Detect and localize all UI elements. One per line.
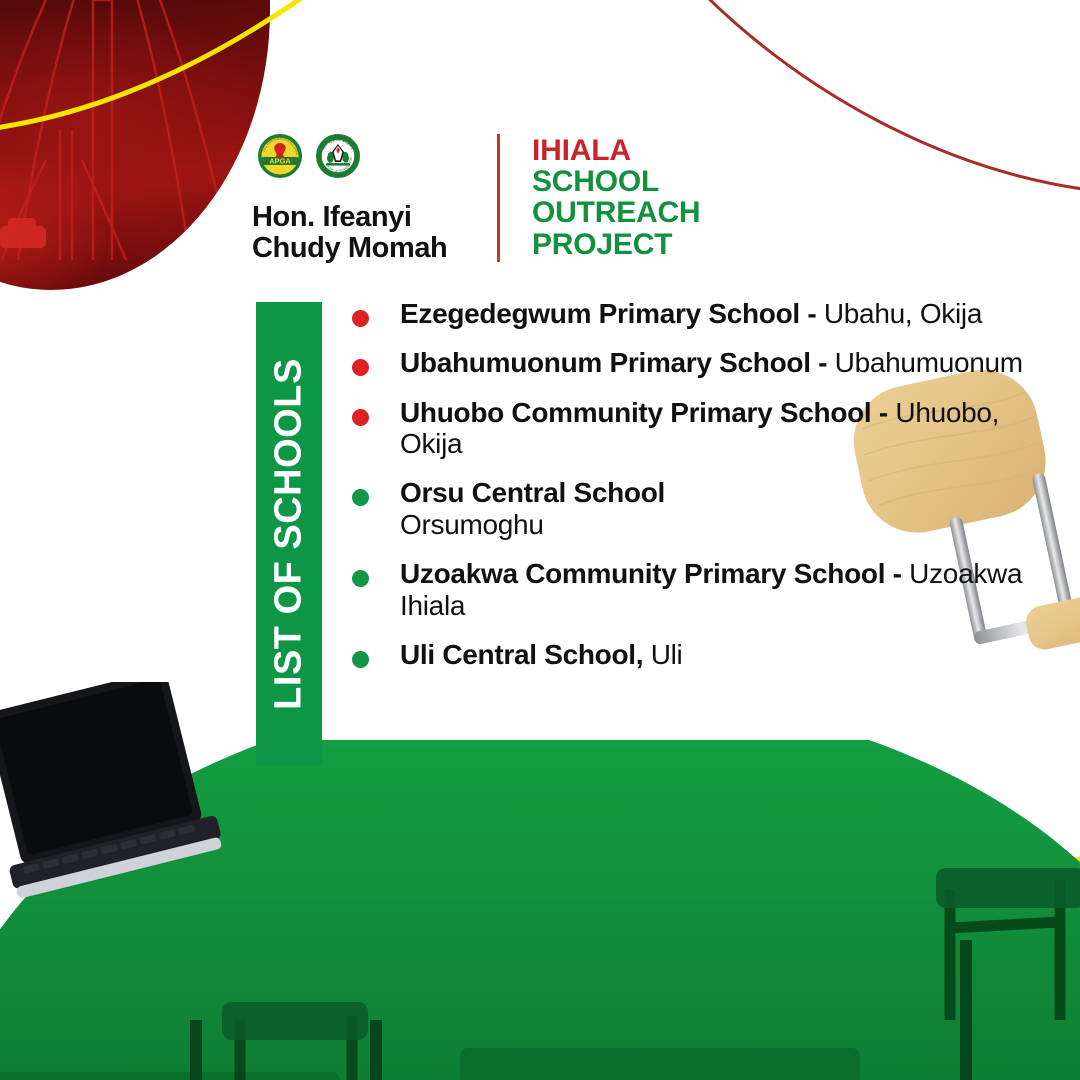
- laptop-image: [0, 682, 228, 942]
- school-location: Ubahu, Okija: [816, 298, 982, 329]
- school-list-item: Orsu Central SchoolOrsumoghu: [344, 477, 1044, 540]
- list-of-schools-label: LIST OF SCHOOLS: [268, 358, 311, 710]
- school-location: Uli: [643, 639, 682, 670]
- person-name: Hon. Ifeanyi Chudy Momah: [252, 202, 447, 265]
- project-title-line-1: IHIALA: [532, 135, 700, 166]
- poster-canvas: a F: [0, 0, 1080, 1080]
- bullet-dot-icon: [352, 310, 369, 327]
- school-list: Ezegedegwum Primary School - Ubahu, Okij…: [344, 298, 1044, 688]
- school-list-item: Uzoakwa Community Primary School - Uzoak…: [344, 558, 1044, 621]
- school-entry-text: Uzoakwa Community Primary School - Uzoak…: [400, 558, 1044, 621]
- school-name: Orsu Central School: [400, 477, 665, 508]
- project-title-line-4: PROJECT: [532, 229, 700, 260]
- apga-logo-icon: APGA ALL PROGRESSIVES GRAND ALLIANCE: [256, 132, 304, 180]
- header-divider: [497, 134, 500, 262]
- school-entry-text: Ubahumuonum Primary School - Ubahumuonum: [400, 347, 1044, 378]
- yellow-curve-top-left: [0, 0, 340, 130]
- bullet-dot-icon: [352, 359, 369, 376]
- bullet-dot-icon: [352, 489, 369, 506]
- bullet-dot-icon: [352, 570, 369, 587]
- school-list-item: Uli Central School, Uli: [344, 639, 1044, 670]
- project-title-line-3: OUTREACH: [532, 197, 700, 228]
- school-name: Ezegedegwum Primary School -: [400, 298, 816, 329]
- project-title-line-2: SCHOOL: [532, 166, 700, 197]
- school-entry-text: Uhuobo Community Primary School - Uhuobo…: [400, 397, 1044, 460]
- school-list-item: Ubahumuonum Primary School - Ubahumuonum: [344, 347, 1044, 378]
- school-entry-text: Orsu Central SchoolOrsumoghu: [400, 477, 1044, 540]
- school-list-item: Uhuobo Community Primary School - Uhuobo…: [344, 397, 1044, 460]
- logo-group: APGA ALL PROGRESSIVES GRAND ALLIANCE: [256, 132, 362, 180]
- school-list-item: Ezegedegwum Primary School - Ubahu, Okij…: [344, 298, 1044, 329]
- bullet-dot-icon: [352, 409, 369, 426]
- list-of-schools-bar: LIST OF SCHOOLS: [256, 302, 322, 765]
- school-name: Uhuobo Community Primary School -: [400, 397, 888, 428]
- school-name: Uli Central School,: [400, 639, 643, 670]
- project-title: IHIALA SCHOOL OUTREACH PROJECT: [532, 135, 700, 260]
- school-name: Ubahumuonum Primary School -: [400, 347, 827, 378]
- school-location: Ubahumuonum: [827, 347, 1023, 378]
- svg-text:APGA: APGA: [269, 157, 291, 166]
- bullet-dot-icon: [352, 651, 369, 668]
- nigeria-seal-icon: FED. REP. OF NIGERIA HOUSE OF REPRESENTA…: [314, 132, 362, 180]
- school-entry-text: Uli Central School, Uli: [400, 639, 1044, 670]
- header: APGA ALL PROGRESSIVES GRAND ALLIANCE: [252, 132, 892, 272]
- school-location: Orsumoghu: [400, 509, 1044, 540]
- school-name: Uzoakwa Community Primary School -: [400, 558, 902, 589]
- school-entry-text: Ezegedegwum Primary School - Ubahu, Okij…: [400, 298, 1044, 329]
